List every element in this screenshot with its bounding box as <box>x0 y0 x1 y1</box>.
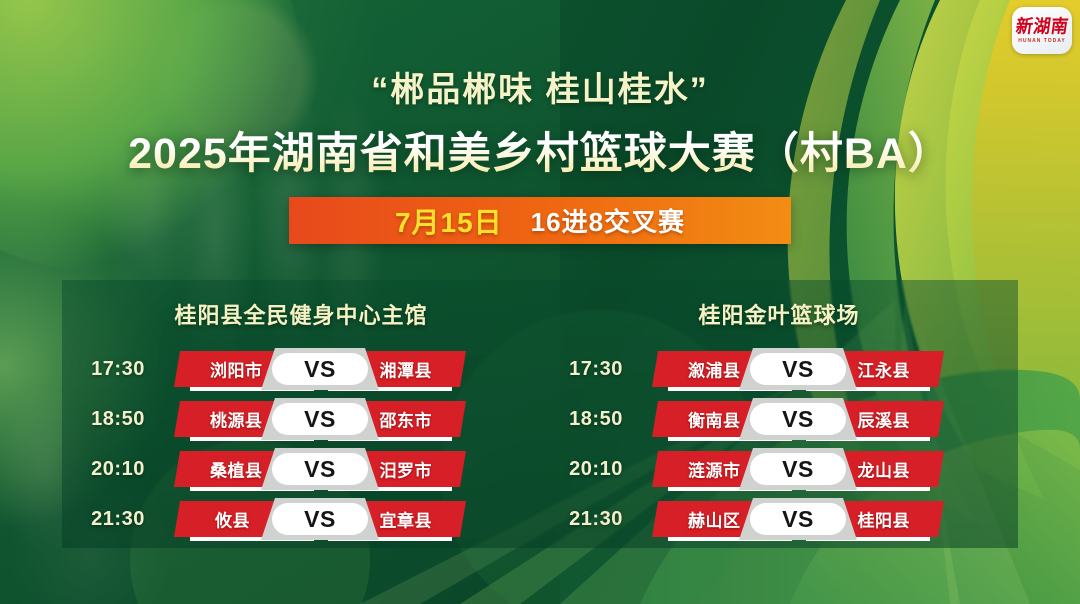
away-team-name: 汨罗市 <box>380 457 433 482</box>
vs-label: VS <box>272 503 368 535</box>
match-time: 17:30 <box>62 358 174 381</box>
hunan-today-logo[interactable]: 新湖南 HUNAN TODAY <box>1012 7 1072 54</box>
home-team-name: 桃源县 <box>210 407 263 432</box>
poster-title: 2025年湖南省和美乡村篮球大赛（村BA） <box>0 119 1080 181</box>
away-team-name: 辰溪县 <box>858 407 911 432</box>
schedule-panel: 桂阳县全民健身中心主馆 17:30 浏阳市 湘潭县 <box>62 280 1018 548</box>
date-banner: 7月15日 16进8交叉赛 <box>289 197 791 244</box>
away-team-name: 邵东市 <box>380 407 433 432</box>
match-banner: 桑植县 汨罗市 VS <box>174 451 466 487</box>
match-row[interactable]: 18:50 桃源县 邵东市 VS <box>62 394 540 444</box>
vs-label: VS <box>750 403 846 435</box>
match-time: 20:10 <box>540 458 652 481</box>
away-team-name: 桂阳县 <box>858 507 911 532</box>
venue-column-left: 桂阳县全民健身中心主馆 17:30 浏阳市 湘潭县 <box>62 280 540 548</box>
poster-stage: 新湖南 HUNAN TODAY “郴品郴味 桂山桂水” 2025年湖南省和美乡村… <box>0 0 1080 604</box>
home-team-name: 衡南县 <box>688 407 741 432</box>
match-row[interactable]: 21:30 攸县 宜章县 VS <box>62 494 540 544</box>
round-name: 16进8交叉赛 <box>531 202 685 239</box>
match-banner: 浏阳市 湘潭县 VS <box>174 351 466 387</box>
venue-title: 桂阳县全民健身中心主馆 <box>62 298 540 330</box>
home-team-name: 溆浦县 <box>688 357 741 382</box>
match-time: 18:50 <box>540 408 652 431</box>
home-team-name: 攸县 <box>210 507 250 532</box>
vs-label: VS <box>272 453 368 485</box>
away-team-name: 湘潭县 <box>380 357 433 382</box>
vs-label: VS <box>272 403 368 435</box>
venue-columns: 桂阳县全民健身中心主馆 17:30 浏阳市 湘潭县 <box>62 280 1018 548</box>
match-row[interactable]: 21:30 赫山区 桂阳县 VS <box>540 494 1018 544</box>
poster-subtitle: “郴品郴味 桂山桂水” <box>0 62 1080 111</box>
match-row[interactable]: 20:10 桑植县 汨罗市 VS <box>62 444 540 494</box>
match-banner: 赫山区 桂阳县 VS <box>652 501 944 537</box>
logo-chinese-text: 新湖南 <box>1014 17 1069 35</box>
venue-column-right: 桂阳金叶篮球场 17:30 溆浦县 江永县 <box>540 280 1018 548</box>
match-row[interactable]: 17:30 溆浦县 江永县 VS <box>540 344 1018 394</box>
vs-label: VS <box>272 353 368 385</box>
match-date: 7月15日 <box>395 201 503 241</box>
match-banner: 溆浦县 江永县 VS <box>652 351 944 387</box>
match-banner: 衡南县 辰溪县 VS <box>652 401 944 437</box>
match-list: 17:30 溆浦县 江永县 VS <box>540 344 1018 544</box>
match-banner: 攸县 宜章县 VS <box>174 501 466 537</box>
match-banner: 桃源县 邵东市 VS <box>174 401 466 437</box>
match-time: 18:50 <box>62 408 174 431</box>
home-team-name: 浏阳市 <box>210 357 263 382</box>
match-time: 17:30 <box>540 358 652 381</box>
vs-label: VS <box>750 453 846 485</box>
home-team-name: 涟源市 <box>688 457 741 482</box>
match-banner: 涟源市 龙山县 VS <box>652 451 944 487</box>
away-team-name: 江永县 <box>858 357 911 382</box>
logo-english-text: HUNAN TODAY <box>1018 38 1065 44</box>
home-team-name: 赫山区 <box>688 507 741 532</box>
away-team-name: 龙山县 <box>858 457 911 482</box>
match-list: 17:30 浏阳市 湘潭县 VS <box>62 344 540 544</box>
vs-label: VS <box>750 353 846 385</box>
match-row[interactable]: 17:30 浏阳市 湘潭县 VS <box>62 344 540 394</box>
match-row[interactable]: 18:50 衡南县 辰溪县 VS <box>540 394 1018 444</box>
home-team-name: 桑植县 <box>210 457 263 482</box>
away-team-name: 宜章县 <box>380 507 433 532</box>
vs-label: VS <box>750 503 846 535</box>
match-time: 21:30 <box>62 508 174 531</box>
match-time: 21:30 <box>540 508 652 531</box>
match-time: 20:10 <box>62 458 174 481</box>
venue-title: 桂阳金叶篮球场 <box>540 298 1018 330</box>
match-row[interactable]: 20:10 涟源市 龙山县 VS <box>540 444 1018 494</box>
